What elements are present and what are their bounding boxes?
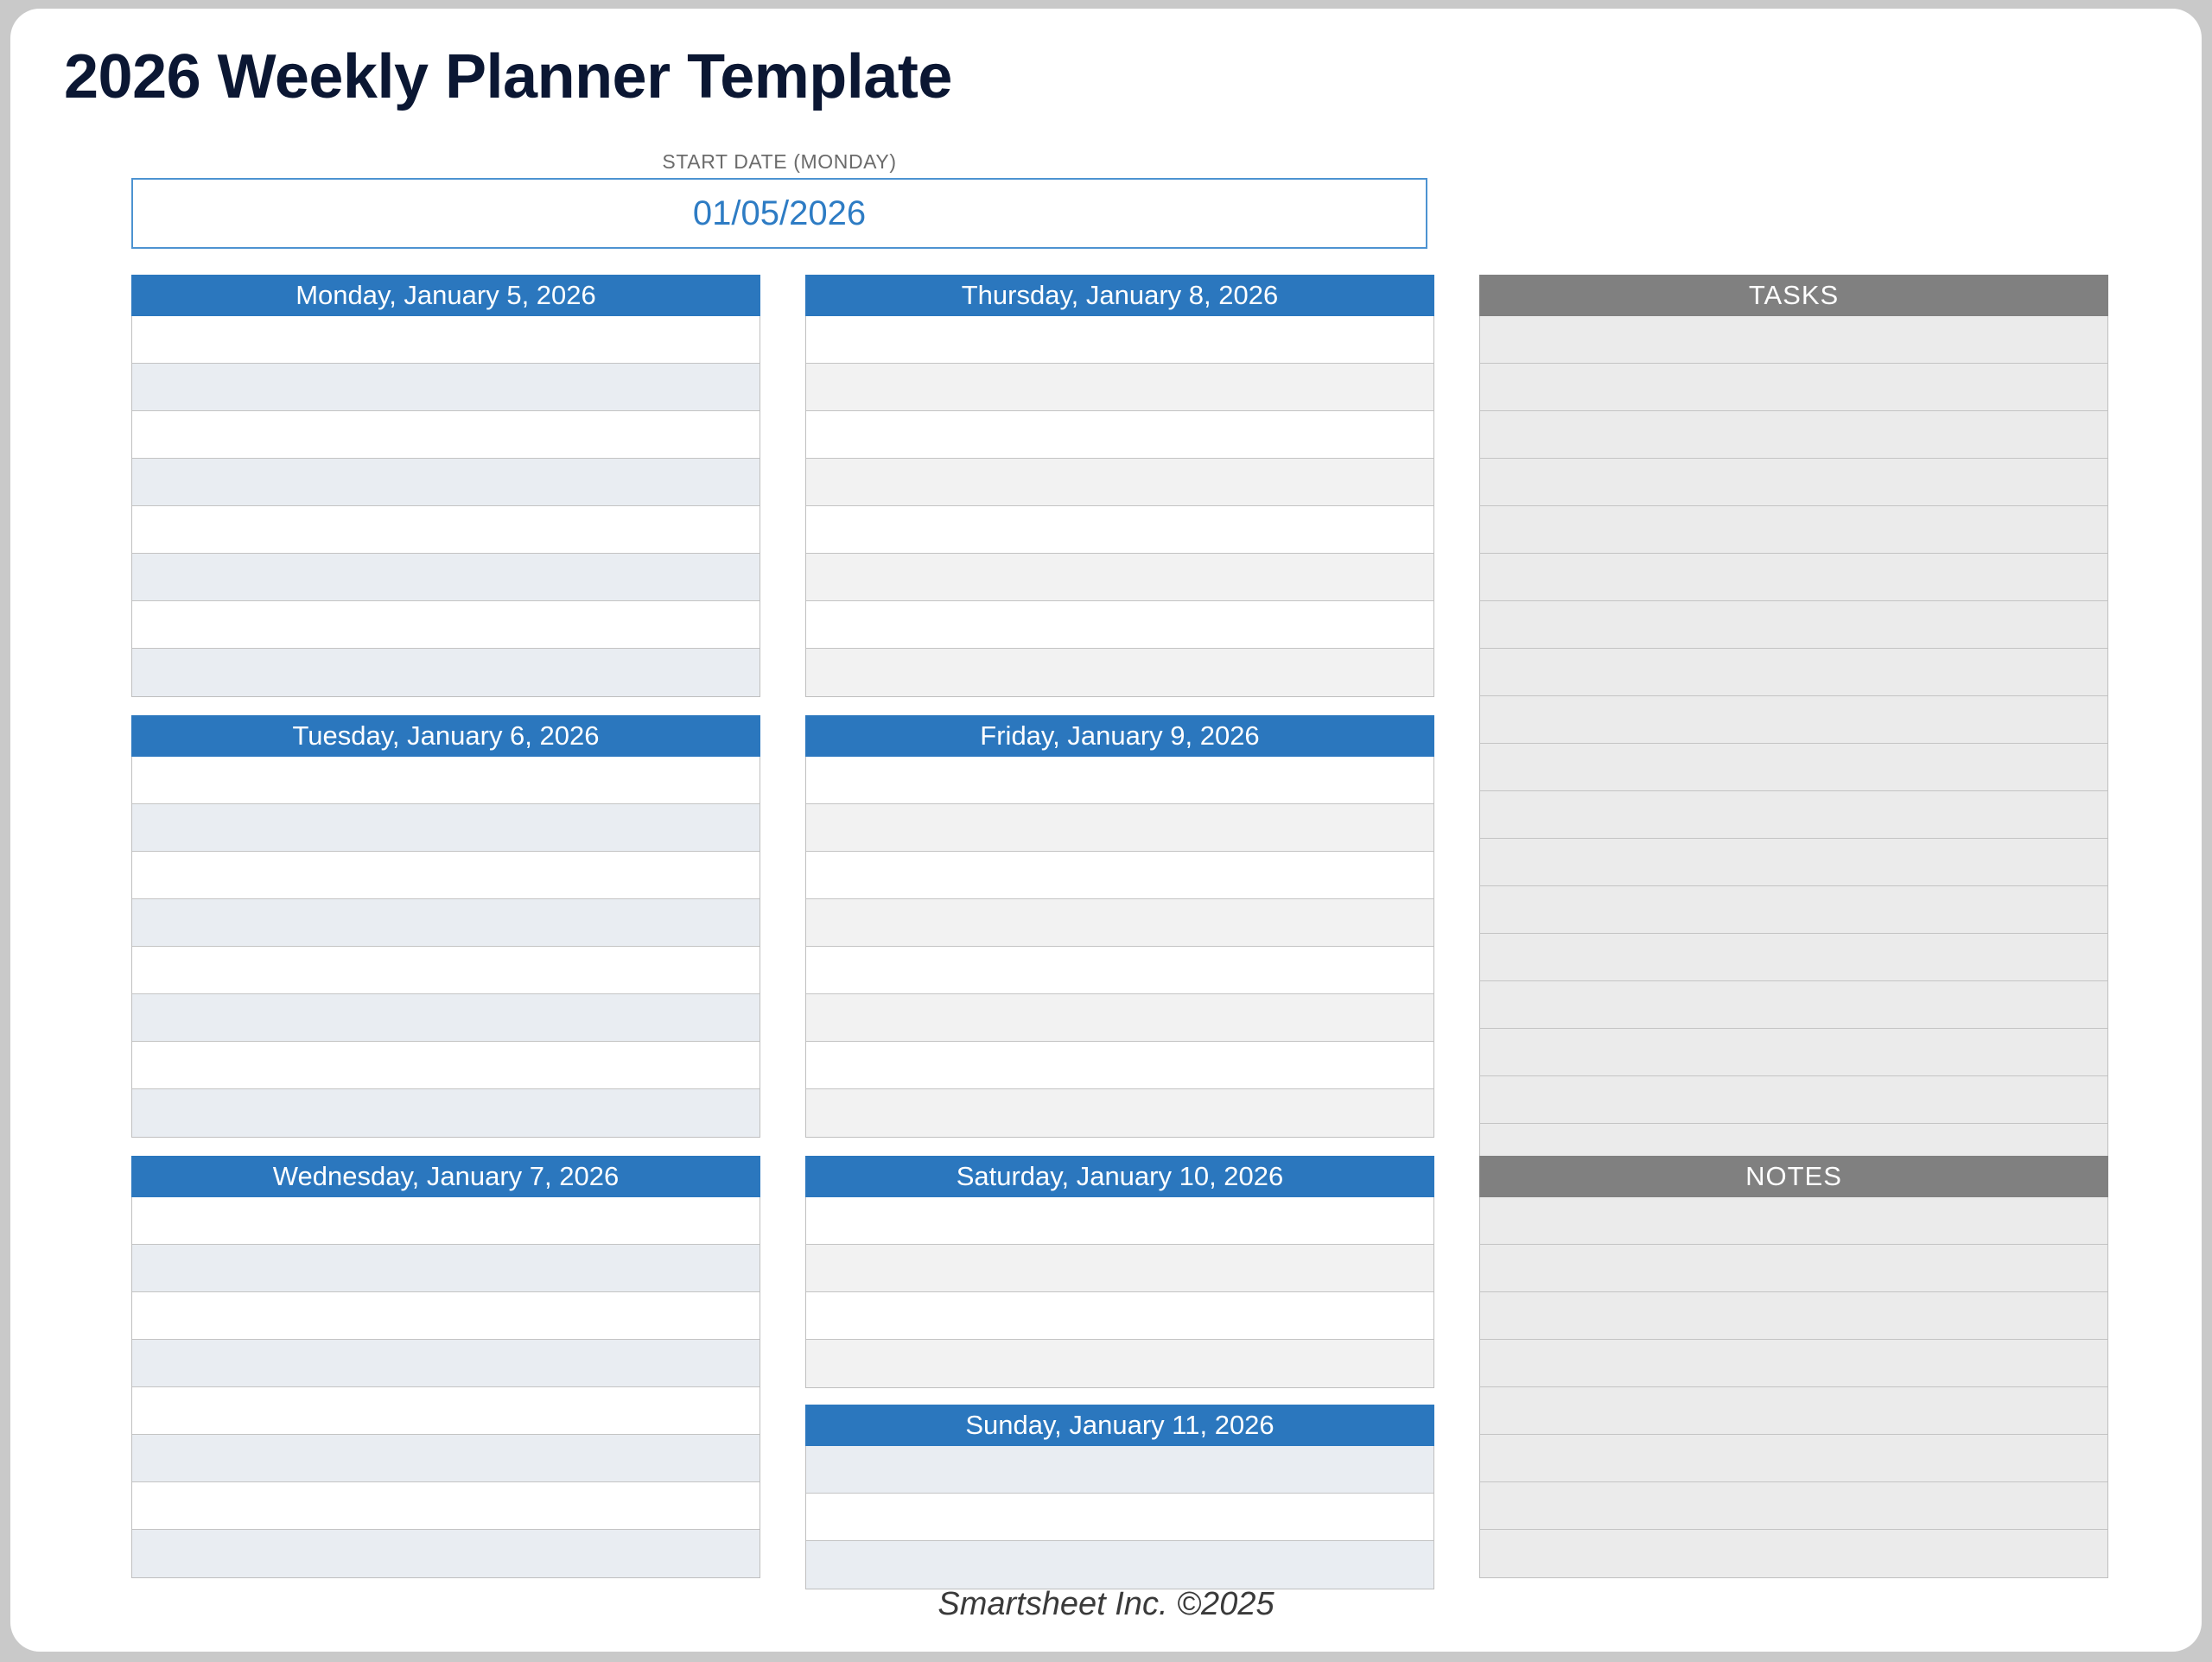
entry-row[interactable] xyxy=(132,649,760,696)
panel-tasks: TASKS xyxy=(1479,275,2108,1172)
entry-row[interactable] xyxy=(132,411,760,459)
entry-row[interactable] xyxy=(132,899,760,947)
day-header-saturday[interactable]: Saturday, January 10, 2026 xyxy=(805,1156,1434,1197)
entry-row[interactable] xyxy=(806,1292,1433,1340)
entry-row[interactable] xyxy=(132,1530,760,1577)
planner-page: 2026 Weekly Planner Template START DATE … xyxy=(10,9,2202,1652)
entry-row[interactable] xyxy=(132,1245,760,1292)
entry-row[interactable] xyxy=(1480,839,2107,886)
entry-row[interactable] xyxy=(1480,696,2107,744)
day-header-tuesday[interactable]: Tuesday, January 6, 2026 xyxy=(131,715,760,757)
entry-row[interactable] xyxy=(1480,554,2107,601)
entry-row[interactable] xyxy=(132,459,760,506)
entry-row[interactable] xyxy=(1480,1292,2107,1340)
day-block-tuesday: Tuesday, January 6, 2026 xyxy=(131,715,760,1138)
entry-row[interactable] xyxy=(132,1089,760,1137)
day-header-monday[interactable]: Monday, January 5, 2026 xyxy=(131,275,760,316)
entry-row[interactable] xyxy=(806,411,1433,459)
row-list xyxy=(131,316,760,697)
entry-row[interactable] xyxy=(132,506,760,554)
entry-row[interactable] xyxy=(1480,459,2107,506)
entry-row[interactable] xyxy=(132,554,760,601)
entry-row[interactable] xyxy=(1480,1387,2107,1435)
row-list xyxy=(131,757,760,1138)
entry-row[interactable] xyxy=(806,1494,1433,1541)
entry-row[interactable] xyxy=(1480,316,2107,364)
entry-row[interactable] xyxy=(132,947,760,994)
entry-row[interactable] xyxy=(806,1340,1433,1387)
entry-row[interactable] xyxy=(1480,886,2107,934)
entry-row[interactable] xyxy=(806,994,1433,1042)
day-block-sunday: Sunday, January 11, 2026 xyxy=(805,1405,1434,1589)
entry-row[interactable] xyxy=(1480,981,2107,1029)
row-list xyxy=(805,757,1434,1138)
day-block-monday: Monday, January 5, 2026 xyxy=(131,275,760,697)
entry-row[interactable] xyxy=(1480,1340,2107,1387)
entry-row[interactable] xyxy=(1480,649,2107,696)
entry-row[interactable] xyxy=(132,1292,760,1340)
day-block-wednesday: Wednesday, January 7, 2026 xyxy=(131,1156,760,1578)
entry-row[interactable] xyxy=(806,649,1433,696)
entry-row[interactable] xyxy=(1480,364,2107,411)
row-list xyxy=(805,1446,1434,1589)
entry-row[interactable] xyxy=(132,364,760,411)
entry-row[interactable] xyxy=(132,1435,760,1482)
entry-row[interactable] xyxy=(132,316,760,364)
entry-row[interactable] xyxy=(806,757,1433,804)
day-block-saturday: Saturday, January 10, 2026 xyxy=(805,1156,1434,1388)
entry-row[interactable] xyxy=(806,316,1433,364)
entry-row[interactable] xyxy=(806,1245,1433,1292)
entry-row[interactable] xyxy=(806,601,1433,649)
entry-row[interactable] xyxy=(1480,1245,2107,1292)
row-list xyxy=(805,1197,1434,1388)
entry-row[interactable] xyxy=(1480,1435,2107,1482)
day-header-thursday[interactable]: Thursday, January 8, 2026 xyxy=(805,275,1434,316)
row-list xyxy=(1479,316,2108,1172)
entry-row[interactable] xyxy=(806,1042,1433,1089)
entry-row[interactable] xyxy=(1480,1530,2107,1577)
entry-row[interactable] xyxy=(1480,934,2107,981)
row-list xyxy=(805,316,1434,697)
entry-row[interactable] xyxy=(132,852,760,899)
entry-row[interactable] xyxy=(806,1197,1433,1245)
entry-row[interactable] xyxy=(1480,1076,2107,1124)
entry-row[interactable] xyxy=(132,1482,760,1530)
panel-header-tasks: TASKS xyxy=(1479,275,2108,316)
entry-row[interactable] xyxy=(132,757,760,804)
entry-row[interactable] xyxy=(1480,601,2107,649)
entry-row[interactable] xyxy=(132,1340,760,1387)
start-date-input[interactable]: 01/05/2026 xyxy=(131,178,1427,249)
entry-row[interactable] xyxy=(1480,791,2107,839)
entry-row[interactable] xyxy=(132,1197,760,1245)
entry-row[interactable] xyxy=(806,947,1433,994)
row-list xyxy=(1479,1197,2108,1578)
panel-header-notes: NOTES xyxy=(1479,1156,2108,1197)
start-date-value: 01/05/2026 xyxy=(133,180,1426,247)
start-date-label: START DATE (MONDAY) xyxy=(131,150,1427,174)
entry-row[interactable] xyxy=(806,554,1433,601)
entry-row[interactable] xyxy=(806,1089,1433,1137)
day-header-friday[interactable]: Friday, January 9, 2026 xyxy=(805,715,1434,757)
entry-row[interactable] xyxy=(1480,411,2107,459)
row-list xyxy=(131,1197,760,1578)
day-block-thursday: Thursday, January 8, 2026 xyxy=(805,275,1434,697)
entry-row[interactable] xyxy=(1480,506,2107,554)
footer-credit: Smartsheet Inc. ©2025 xyxy=(10,1586,2202,1623)
entry-row[interactable] xyxy=(1480,1482,2107,1530)
page-title: 2026 Weekly Planner Template xyxy=(64,41,952,112)
day-header-sunday[interactable]: Sunday, January 11, 2026 xyxy=(805,1405,1434,1446)
entry-row[interactable] xyxy=(132,1387,760,1435)
day-block-friday: Friday, January 9, 2026 xyxy=(805,715,1434,1138)
entry-row[interactable] xyxy=(806,804,1433,852)
panel-notes: NOTES xyxy=(1479,1156,2108,1578)
entry-row[interactable] xyxy=(806,899,1433,947)
entry-row[interactable] xyxy=(132,1042,760,1089)
entry-row[interactable] xyxy=(806,852,1433,899)
entry-row[interactable] xyxy=(1480,744,2107,791)
entry-row[interactable] xyxy=(132,601,760,649)
entry-row[interactable] xyxy=(806,1446,1433,1494)
entry-row[interactable] xyxy=(806,506,1433,554)
entry-row[interactable] xyxy=(806,459,1433,506)
entry-row[interactable] xyxy=(806,364,1433,411)
day-header-wednesday[interactable]: Wednesday, January 7, 2026 xyxy=(131,1156,760,1197)
entry-row[interactable] xyxy=(1480,1197,2107,1245)
entry-row[interactable] xyxy=(806,1541,1433,1589)
entry-row[interactable] xyxy=(132,804,760,852)
entry-row[interactable] xyxy=(1480,1029,2107,1076)
entry-row[interactable] xyxy=(132,994,760,1042)
